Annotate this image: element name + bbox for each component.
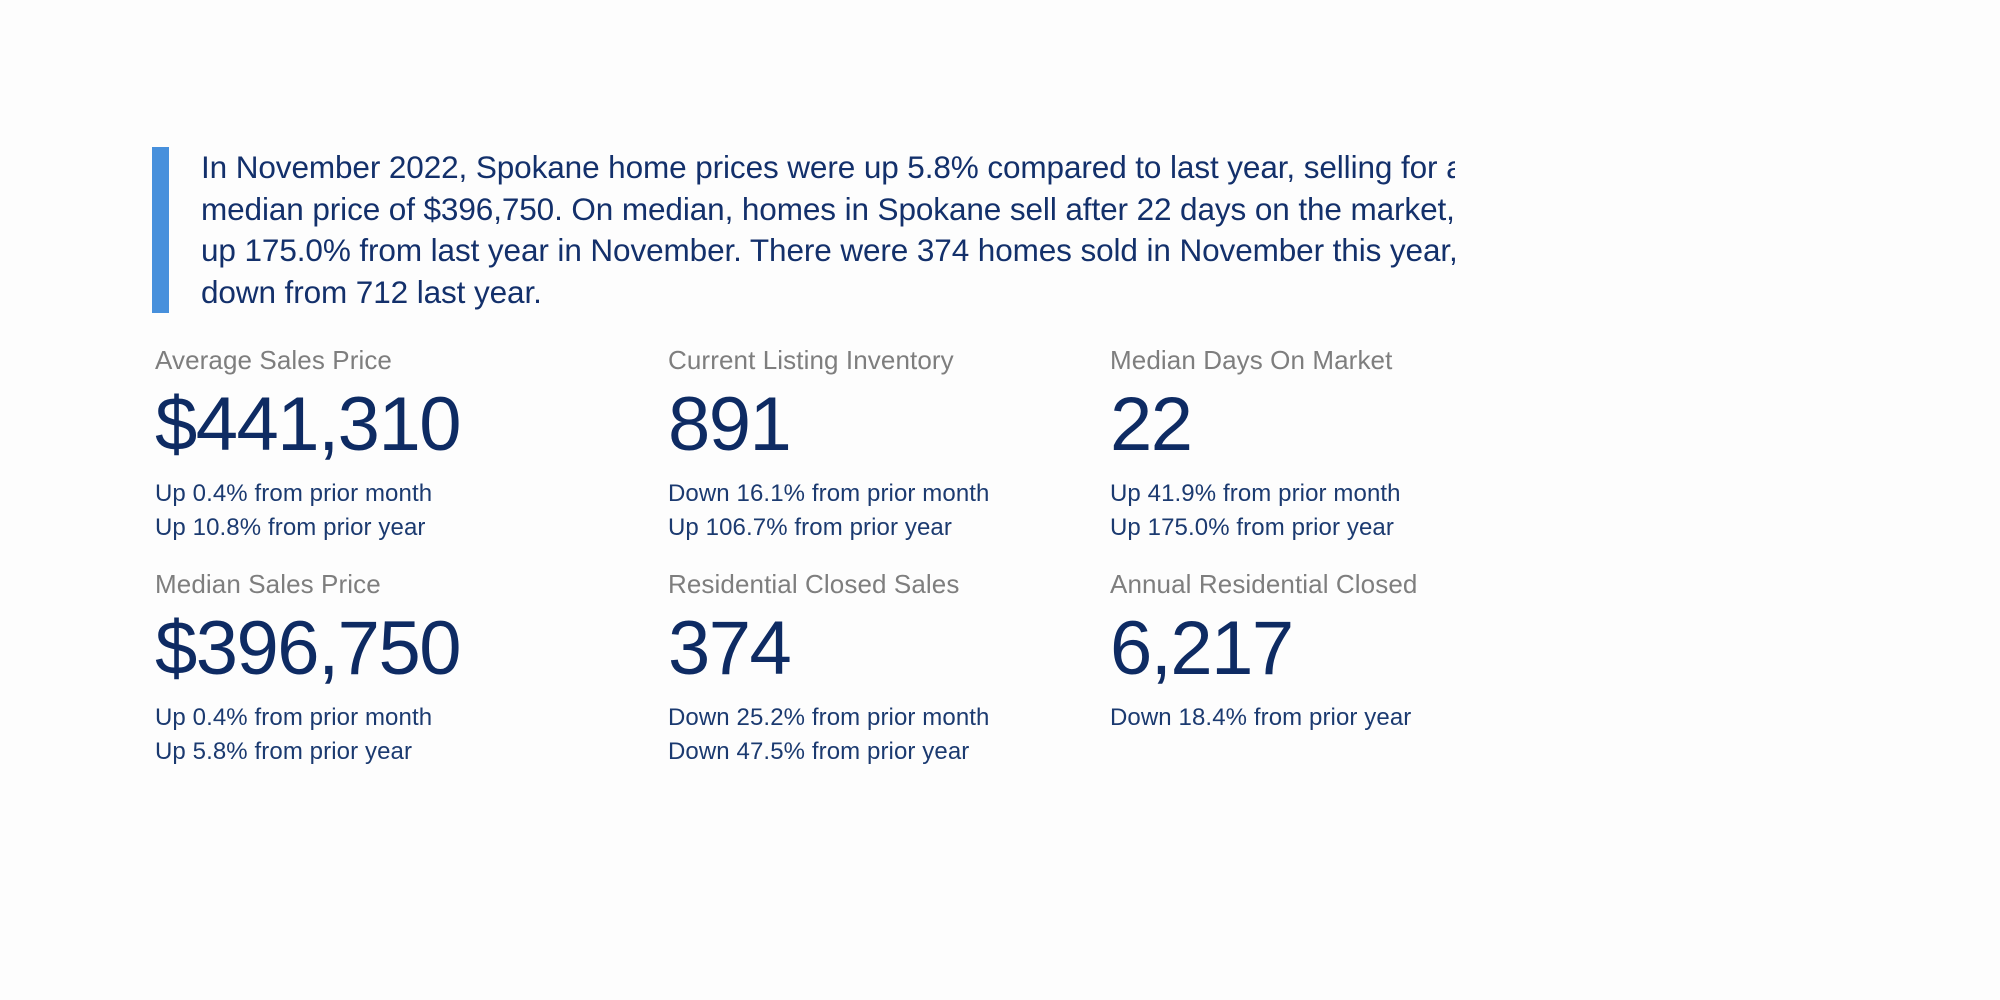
- stats-grid: Average Sales Price $441,310 Up 0.4% fro…: [155, 345, 1455, 793]
- stat-notes: Down 18.4% from prior year: [1110, 701, 1455, 735]
- market-stats-report: In November 2022, Spokane home prices we…: [0, 0, 1455, 1000]
- stat-note-year: Down 18.4% from prior year: [1110, 701, 1455, 735]
- stat-label: Median Days On Market: [1110, 345, 1455, 375]
- stat-note-month: Up 41.9% from prior month: [1110, 477, 1455, 511]
- stat-note-year: Up 175.0% from prior year: [1110, 511, 1455, 545]
- stat-card-annual-residential-closed: Annual Residential Closed 6,217 Down 18.…: [1110, 569, 1455, 735]
- market-summary-blockquote: In November 2022, Spokane home prices we…: [152, 147, 1455, 313]
- stat-value: 22: [1110, 383, 1455, 467]
- stat-notes: Up 41.9% from prior month Up 175.0% from…: [1110, 477, 1455, 545]
- stat-label: Annual Residential Closed: [1110, 569, 1455, 599]
- stat-note-year: Down 47.5% from prior year: [668, 735, 1288, 769]
- stat-value: 6,217: [1110, 607, 1455, 691]
- accent-bar: [152, 147, 169, 313]
- stats-row: Median Sales Price $396,750 Up 0.4% from…: [155, 569, 1455, 793]
- stat-card-median-days-on-market: Median Days On Market 22 Up 41.9% from p…: [1110, 345, 1455, 545]
- stats-row: Average Sales Price $441,310 Up 0.4% fro…: [155, 345, 1455, 569]
- market-summary-text: In November 2022, Spokane home prices we…: [169, 147, 1455, 313]
